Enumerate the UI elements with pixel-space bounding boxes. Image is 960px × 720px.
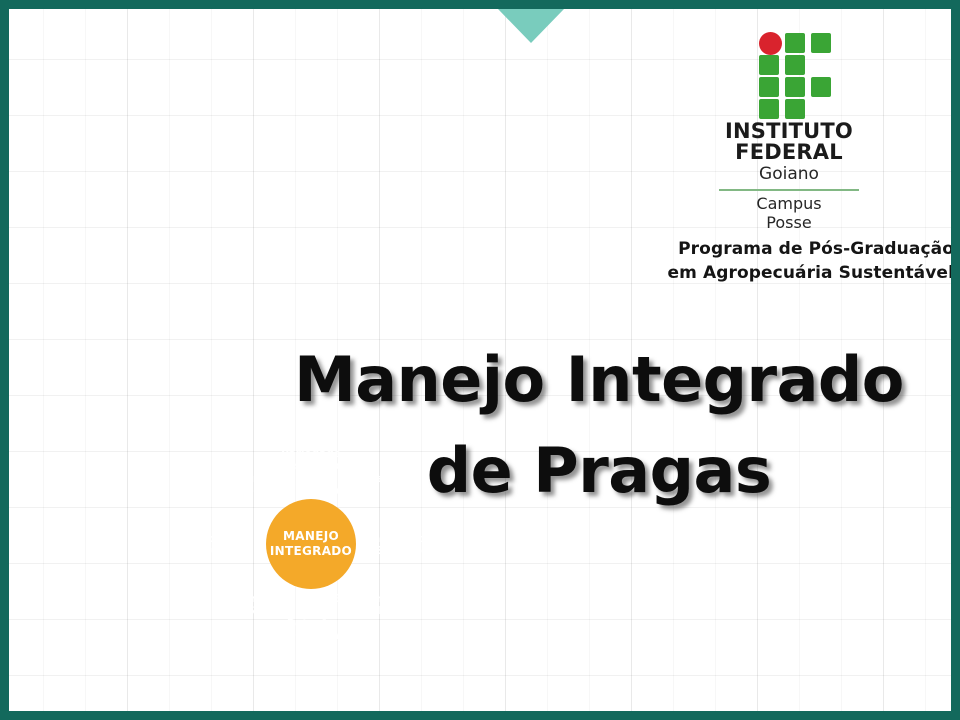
petal-label-rotacao-de-culturas-line1: Rotação xyxy=(287,618,335,630)
petal-label-controle-biologico-line1: Controle xyxy=(226,473,277,485)
logo-square xyxy=(759,77,779,97)
logo-text-goiano: Goiano xyxy=(699,164,879,185)
logo-square xyxy=(759,99,779,119)
petal-label-cobertura-do-solo-line2: do Solo xyxy=(229,605,273,617)
petal-label-rotacao-de-culturas-line2: de Culturas xyxy=(277,630,345,642)
logo-square xyxy=(785,77,805,97)
logo-square xyxy=(785,33,805,53)
petal-label-sanidade-da-semente-line2: da Semente xyxy=(336,485,407,497)
petal-label-tratamento-de-sementes-line2: de Sementes xyxy=(358,545,435,557)
petal-label-controle-biologico-line2: Biológico xyxy=(224,485,278,497)
program-subtitle-line2: em Agropecuária Sustentável xyxy=(309,261,954,285)
logo-square xyxy=(811,33,831,53)
petal-label-espacamento-densidade-line1: Espaçamento xyxy=(332,593,411,605)
petal-label-variedade-resistente-line1: Variedade xyxy=(281,448,341,460)
logo-square xyxy=(811,77,831,97)
institution-logo-block: INSTITUTO FEDERAL Goiano Campus Posse xyxy=(699,31,879,232)
instituto-federal-logo-icon xyxy=(739,31,839,117)
petal-label-controle-quimico-line2: Químico xyxy=(202,545,250,557)
manejo-integrado-flower-diagram: VariedadeResistenteSanidadeda SementeTra… xyxy=(177,413,445,675)
top-chevron-decoration xyxy=(498,9,564,43)
logo-divider-rule xyxy=(719,189,859,191)
logo-red-dot xyxy=(759,32,782,55)
logo-square xyxy=(759,55,779,75)
slide-canvas: INSTITUTO FEDERAL Goiano Campus Posse Pr… xyxy=(0,0,960,720)
program-subtitle: Programa de Pós-Graduação em Agropecuári… xyxy=(309,237,954,285)
petal-label-variedade-resistente-line2: Resistente xyxy=(279,460,342,472)
page-title-line1: Manejo Integrado xyxy=(259,335,939,426)
logo-text-campus: Campus xyxy=(699,194,879,213)
logo-text-instituto: INSTITUTO xyxy=(699,121,879,142)
center-label-line2: INTEGRADO xyxy=(270,544,352,558)
logo-square xyxy=(785,99,805,119)
logo-square xyxy=(785,55,805,75)
logo-text-federal: FEDERAL xyxy=(699,142,879,163)
petal-label-espacamento-densidade-line2: Densidade xyxy=(340,605,402,617)
petal-label-sanidade-da-semente-line1: Sanidade xyxy=(344,473,399,485)
program-subtitle-line1: Programa de Pós-Graduação xyxy=(309,237,954,261)
logo-text-posse: Posse xyxy=(699,213,879,232)
center-label-line1: MANEJO xyxy=(283,529,339,543)
petal-label-cobertura-do-solo-line1: Cobertura xyxy=(221,593,281,605)
petal-label-tratamento-de-sementes-line1: Tratamento xyxy=(362,533,430,545)
petal-label-controle-quimico-line1: Controle xyxy=(201,533,252,545)
